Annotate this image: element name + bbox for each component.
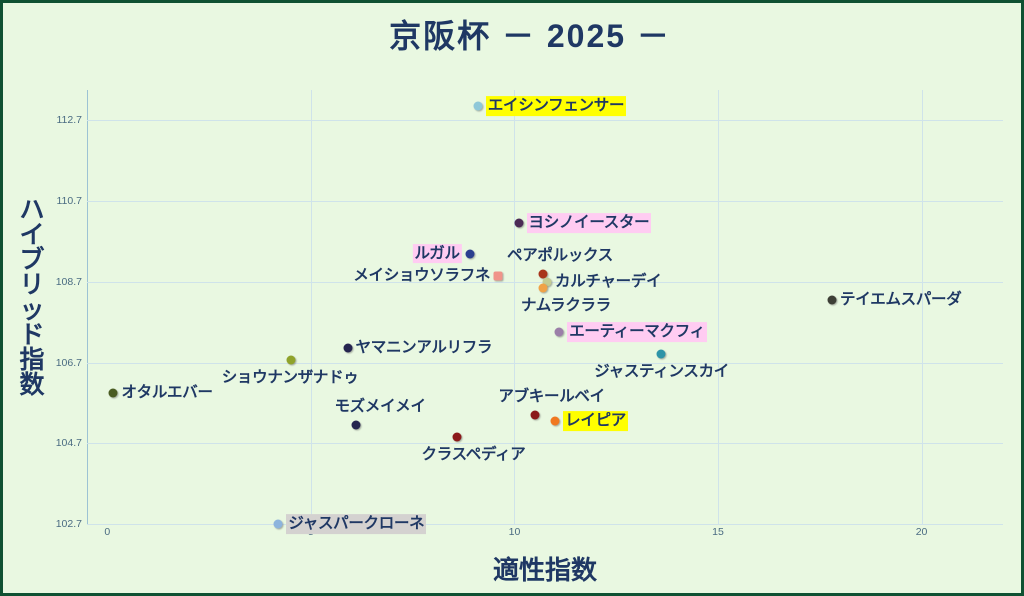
data-point-marker[interactable] [530, 410, 539, 419]
y-axis-tick-label: 104.7 [11, 437, 87, 449]
data-point-label: カルチャーデイ [555, 273, 661, 291]
data-point-marker[interactable] [274, 520, 283, 529]
data-point-marker[interactable] [465, 249, 474, 258]
data-point-label: ヤマニンアルリフラ [356, 339, 493, 357]
data-point-label: メイショウソラフネ [353, 267, 490, 285]
data-point-marker[interactable] [109, 388, 118, 397]
data-point-marker[interactable] [538, 283, 547, 292]
data-point-label: アブキールベイ [498, 388, 604, 406]
data-point-marker[interactable] [551, 417, 560, 426]
gridline-vertical [718, 90, 719, 524]
data-point-label: ヨシノイースター [527, 213, 652, 233]
gridline-horizontal [87, 201, 1003, 202]
data-point-label: オタルエバー [121, 384, 212, 402]
data-point-label: レイピア [563, 411, 628, 431]
chart-title: 京阪杯 － 2025 － [3, 11, 1024, 57]
x-axis-title: 適性指数 [3, 550, 1024, 587]
data-point-label: エーティーマクフィ [567, 322, 707, 342]
data-point-marker[interactable] [286, 356, 295, 365]
x-axis-tick-label: 10 [509, 526, 521, 538]
gridline-horizontal [87, 443, 1003, 444]
data-point-label: ナムラクララ [521, 297, 611, 315]
y-axis-tick-label: 102.7 [11, 518, 87, 530]
x-axis-tick-label: 20 [916, 526, 928, 538]
data-point-marker[interactable] [828, 295, 837, 304]
data-point-label: モズメイメイ [334, 398, 425, 416]
data-point-marker[interactable] [351, 421, 360, 430]
data-point-marker[interactable] [473, 102, 482, 111]
chart-canvas: 京阪杯 － 2025 － 112.7110.7108.7106.7104.710… [0, 0, 1024, 596]
data-point-marker[interactable] [343, 344, 352, 353]
data-point-label: ペアポルックス [507, 247, 613, 265]
data-point-label: ルガル [413, 244, 462, 264]
gridline-horizontal [87, 363, 1003, 364]
data-point-label: クラスペディア [422, 446, 526, 464]
data-point-label: テイエムスパーダ [840, 291, 961, 309]
y-axis-tick-label: 112.7 [11, 114, 87, 126]
data-point-label: ジャスティンスカイ [594, 364, 729, 382]
gridline-horizontal [87, 524, 1003, 525]
data-point-marker[interactable] [494, 271, 503, 280]
x-axis-tick-label: 15 [712, 526, 724, 538]
data-point-marker[interactable] [555, 328, 564, 337]
plot-area: エイシンフェンサーヨシノイースタールガルメイショウソラフネペアポルックスカルチャ… [87, 90, 1003, 524]
gridline-vertical [311, 90, 312, 524]
data-point-label: エイシンフェンサー [486, 96, 626, 116]
data-point-marker[interactable] [657, 350, 666, 359]
y-axis-title: ハイブリッド指数 [9, 198, 55, 398]
x-axis-tick-label: 0 [104, 526, 110, 538]
data-point-marker[interactable] [453, 433, 462, 442]
gridline-horizontal [87, 120, 1003, 121]
x-axis-tick-labels: 05101520 [87, 526, 1003, 546]
data-point-marker[interactable] [514, 219, 523, 228]
data-point-label: ショウナンザナドゥ [222, 370, 359, 388]
data-point-label: ジャスパークローネ [286, 514, 426, 534]
